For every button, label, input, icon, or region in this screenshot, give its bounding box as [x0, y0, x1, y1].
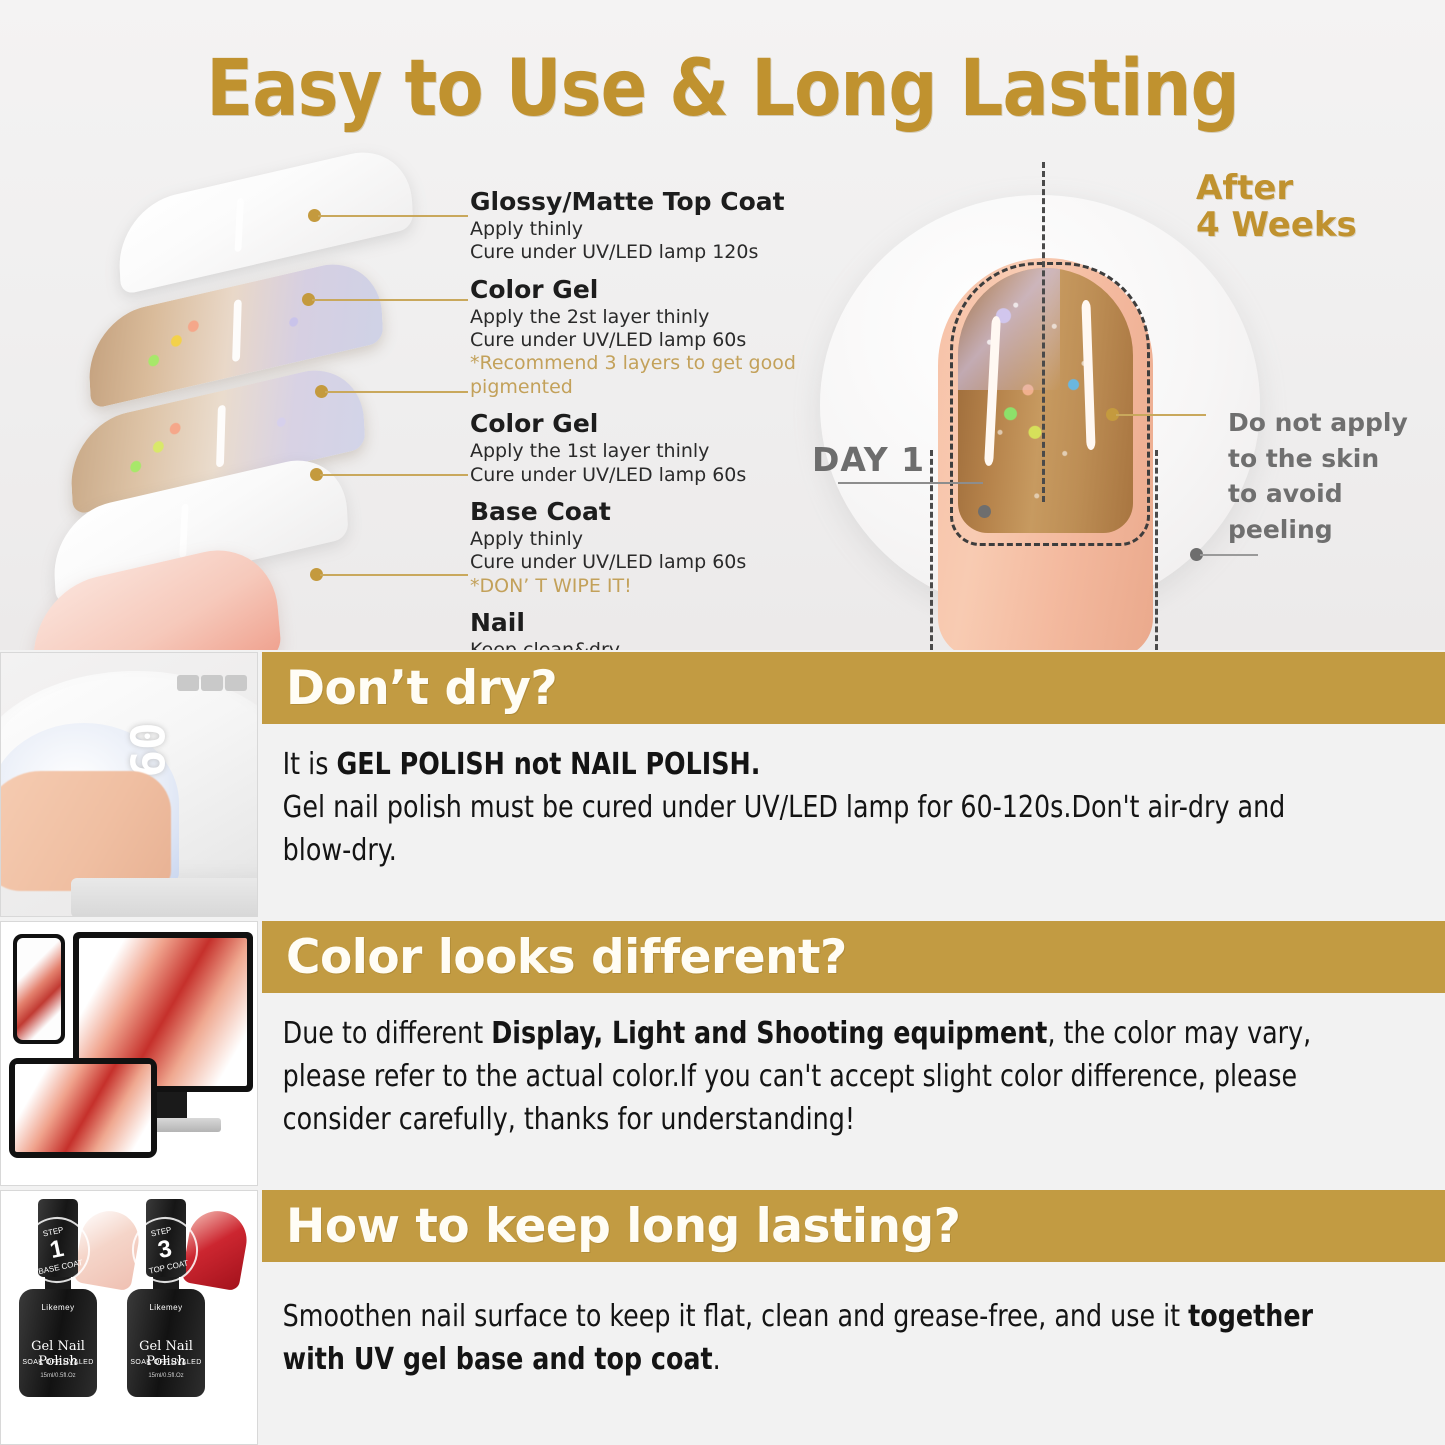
bottle-body: STEP 3 TOP COAT Likemey Gel Nail Polish …: [127, 1289, 205, 1397]
section-color-looks-different: Color looks different? Due to different …: [0, 921, 1445, 1186]
product-subtitle: SOAK OFF UV&LED: [19, 1359, 97, 1366]
devices-photo: [1, 922, 257, 1185]
product-subtitle: SOAK OFF UV&LED: [127, 1359, 205, 1366]
bottle-body: STEP 1 BASE COAT Likemey Gel Nail Polish…: [19, 1289, 97, 1397]
bottle-step-1: STEP 1 BASE COAT Likemey Gel Nail Polish…: [19, 1199, 97, 1397]
section-heading: Color looks different?: [262, 930, 847, 985]
section-body-dont-dry: Don’t dry? It is GEL POLISH not NAIL POL…: [262, 652, 1445, 873]
thumbnail-devices: [0, 921, 258, 1186]
bottle-step-3: STEP 3 TOP COAT Likemey Gel Nail Polish …: [127, 1199, 205, 1397]
comparison-divider-dashed-line: [1042, 162, 1045, 502]
leader-line-after-4-weeks: [1116, 414, 1206, 416]
page-title: Easy to Use & Long Lasting: [87, 44, 1359, 134]
layer-top-coat-chip: [117, 141, 414, 296]
leader-dot-day1: [978, 505, 991, 518]
leader-line-base-coat: [320, 474, 468, 476]
phone-device: [13, 934, 65, 1044]
lamp-button-3[interactable]: [225, 675, 247, 691]
section-heading-banner: How to keep long lasting?: [262, 1190, 1445, 1262]
bottle-step-badge: STEP 1 BASE COAT: [18, 1211, 96, 1289]
bottle-step-badge: STEP 3 TOP COAT: [126, 1211, 204, 1289]
section-how-to-keep-long-lasting: STEP 1 BASE COAT Likemey Gel Nail Polish…: [0, 1190, 1445, 1445]
day-1-label: DAY 1: [812, 440, 925, 479]
section-heading: Don’t dry?: [262, 661, 557, 716]
step-type: BASE COAT: [38, 1259, 84, 1276]
section-text: It is GEL POLISH not NAIL POLISH.Gel nai…: [262, 724, 1374, 873]
leader-line-color-gel-1: [325, 391, 468, 393]
lamp-button-1[interactable]: [177, 675, 199, 691]
lamp-button-2[interactable]: [201, 675, 223, 691]
hand-in-lamp: [0, 771, 171, 891]
infographic-page: Easy to Use & Long Lasting: [0, 0, 1445, 1445]
brand-name: Likemey: [19, 1303, 97, 1312]
after-label-line-2: 4 Weeks: [1196, 207, 1357, 244]
section-dont-dry: 60 Don’t dry? It is GEL POLISH not NAIL …: [0, 652, 1445, 917]
day-1-underline: [838, 482, 983, 484]
section-text: Smoothen nail surface to keep it flat, c…: [262, 1262, 1374, 1382]
section-body-color-looks-different: Color looks different? Due to different …: [262, 921, 1445, 1142]
warning-line-3: to avoid peeling: [1228, 476, 1445, 547]
leader-line-top-coat: [318, 215, 468, 217]
skin-dashed-guide: [1155, 450, 1158, 650]
bottles-photo: STEP 1 BASE COAT Likemey Gel Nail Polish…: [1, 1191, 257, 1444]
step-number: 3: [156, 1237, 174, 1263]
nail-layer-stack-illustration: [55, 165, 455, 645]
thumbnail-uv-lamp: 60: [0, 652, 258, 917]
warning-line-1: Do not apply: [1228, 405, 1445, 441]
leader-line-do-not-apply: [1200, 554, 1258, 556]
step-number: 1: [48, 1237, 66, 1263]
brand-name: Likemey: [127, 1303, 205, 1312]
product-volume: 15ml/0.5fl.Oz: [19, 1373, 97, 1379]
product-volume: 15ml/0.5fl.Oz: [127, 1373, 205, 1379]
do-not-apply-warning: Do not apply to the skin to avoid peelin…: [1228, 405, 1445, 547]
section-heading-banner: Don’t dry?: [262, 652, 1445, 724]
leader-line-nail: [320, 574, 468, 576]
lamp-timer-display: 60: [122, 722, 176, 777]
tablet-device: [9, 1058, 157, 1158]
hero-section: Easy to Use & Long Lasting: [0, 0, 1445, 650]
warning-line-2: to the skin: [1228, 441, 1445, 477]
thumbnail-bottles: STEP 1 BASE COAT Likemey Gel Nail Polish…: [0, 1190, 258, 1445]
lamp-base: [71, 878, 258, 917]
step-type: TOP COAT: [148, 1260, 189, 1276]
section-text: Due to different Display, Light and Shoo…: [262, 993, 1374, 1142]
section-body-how-to-keep-long-lasting: How to keep long lasting? Smoothen nail …: [262, 1190, 1445, 1382]
section-heading: How to keep long lasting?: [262, 1199, 960, 1254]
after-4-weeks-label: After 4 Weeks: [1196, 170, 1357, 243]
leader-line-color-gel-2: [312, 299, 468, 301]
uv-lamp-photo: 60: [1, 653, 257, 916]
after-label-line-1: After: [1196, 170, 1357, 207]
section-heading-banner: Color looks different?: [262, 921, 1445, 993]
day1-dashed-guide: [930, 450, 933, 650]
nail-dashed-outline: [950, 262, 1150, 546]
